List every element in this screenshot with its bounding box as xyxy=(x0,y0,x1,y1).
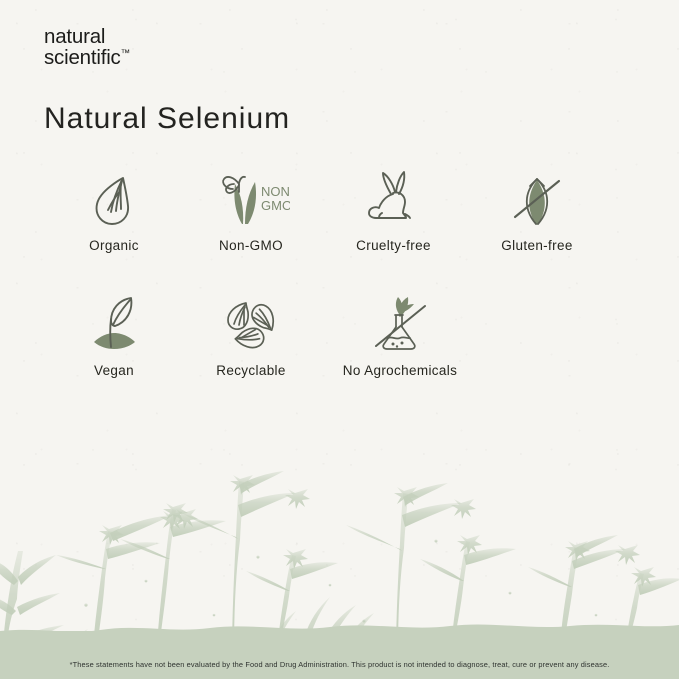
non-gmo-butterfly-corn-icon: NON GMO xyxy=(212,168,290,230)
non-gmo-mark-line-1: NON xyxy=(261,184,290,199)
badge-label: Vegan xyxy=(94,363,134,378)
badge-label: Cruelty-free xyxy=(356,238,431,253)
badge-label: Gluten-free xyxy=(501,238,572,253)
brand-logo: natural scientific™ xyxy=(44,27,130,69)
sprout-leaf-icon xyxy=(85,293,143,355)
badge-no-agrochemicals: No Agrochemicals xyxy=(320,293,480,378)
badge-cruelty-free: Cruelty-free xyxy=(320,168,467,253)
badge-gluten-free: Gluten-free xyxy=(467,168,607,253)
grain-crossed-out-icon xyxy=(508,168,566,230)
certification-badges: Organic NON GMO xyxy=(0,168,679,378)
badge-label: Non-GMO xyxy=(219,238,283,253)
badge-organic: Organic xyxy=(46,168,182,253)
organic-droplet-leaf-icon xyxy=(87,168,141,230)
trademark-symbol: ™ xyxy=(121,48,131,59)
badge-label: No Agrochemicals xyxy=(343,363,457,378)
flask-crossed-out-icon xyxy=(370,293,430,355)
brand-line-1: natural xyxy=(44,27,130,48)
badge-label: Organic xyxy=(89,238,139,253)
recycling-leaves-icon xyxy=(222,293,280,355)
badge-non-gmo: NON GMO Non-GMO xyxy=(182,168,320,253)
badge-vegan: Vegan xyxy=(46,293,182,378)
badge-recyclable: Recyclable xyxy=(182,293,320,378)
fda-disclaimer: *These statements have not been evaluate… xyxy=(0,660,679,669)
meadow-foreground-fringe xyxy=(0,409,679,679)
badge-label: Recyclable xyxy=(216,363,286,378)
rabbit-icon xyxy=(366,168,422,230)
non-gmo-mark-line-2: GMO xyxy=(261,198,290,213)
brand-name-text: scientific xyxy=(44,46,121,69)
page-title: Natural Selenium xyxy=(44,102,290,136)
brand-line-2: scientific™ xyxy=(44,48,130,69)
badge-row-1: Organic NON GMO xyxy=(0,168,679,253)
badge-row-2: Vegan xyxy=(0,293,679,378)
